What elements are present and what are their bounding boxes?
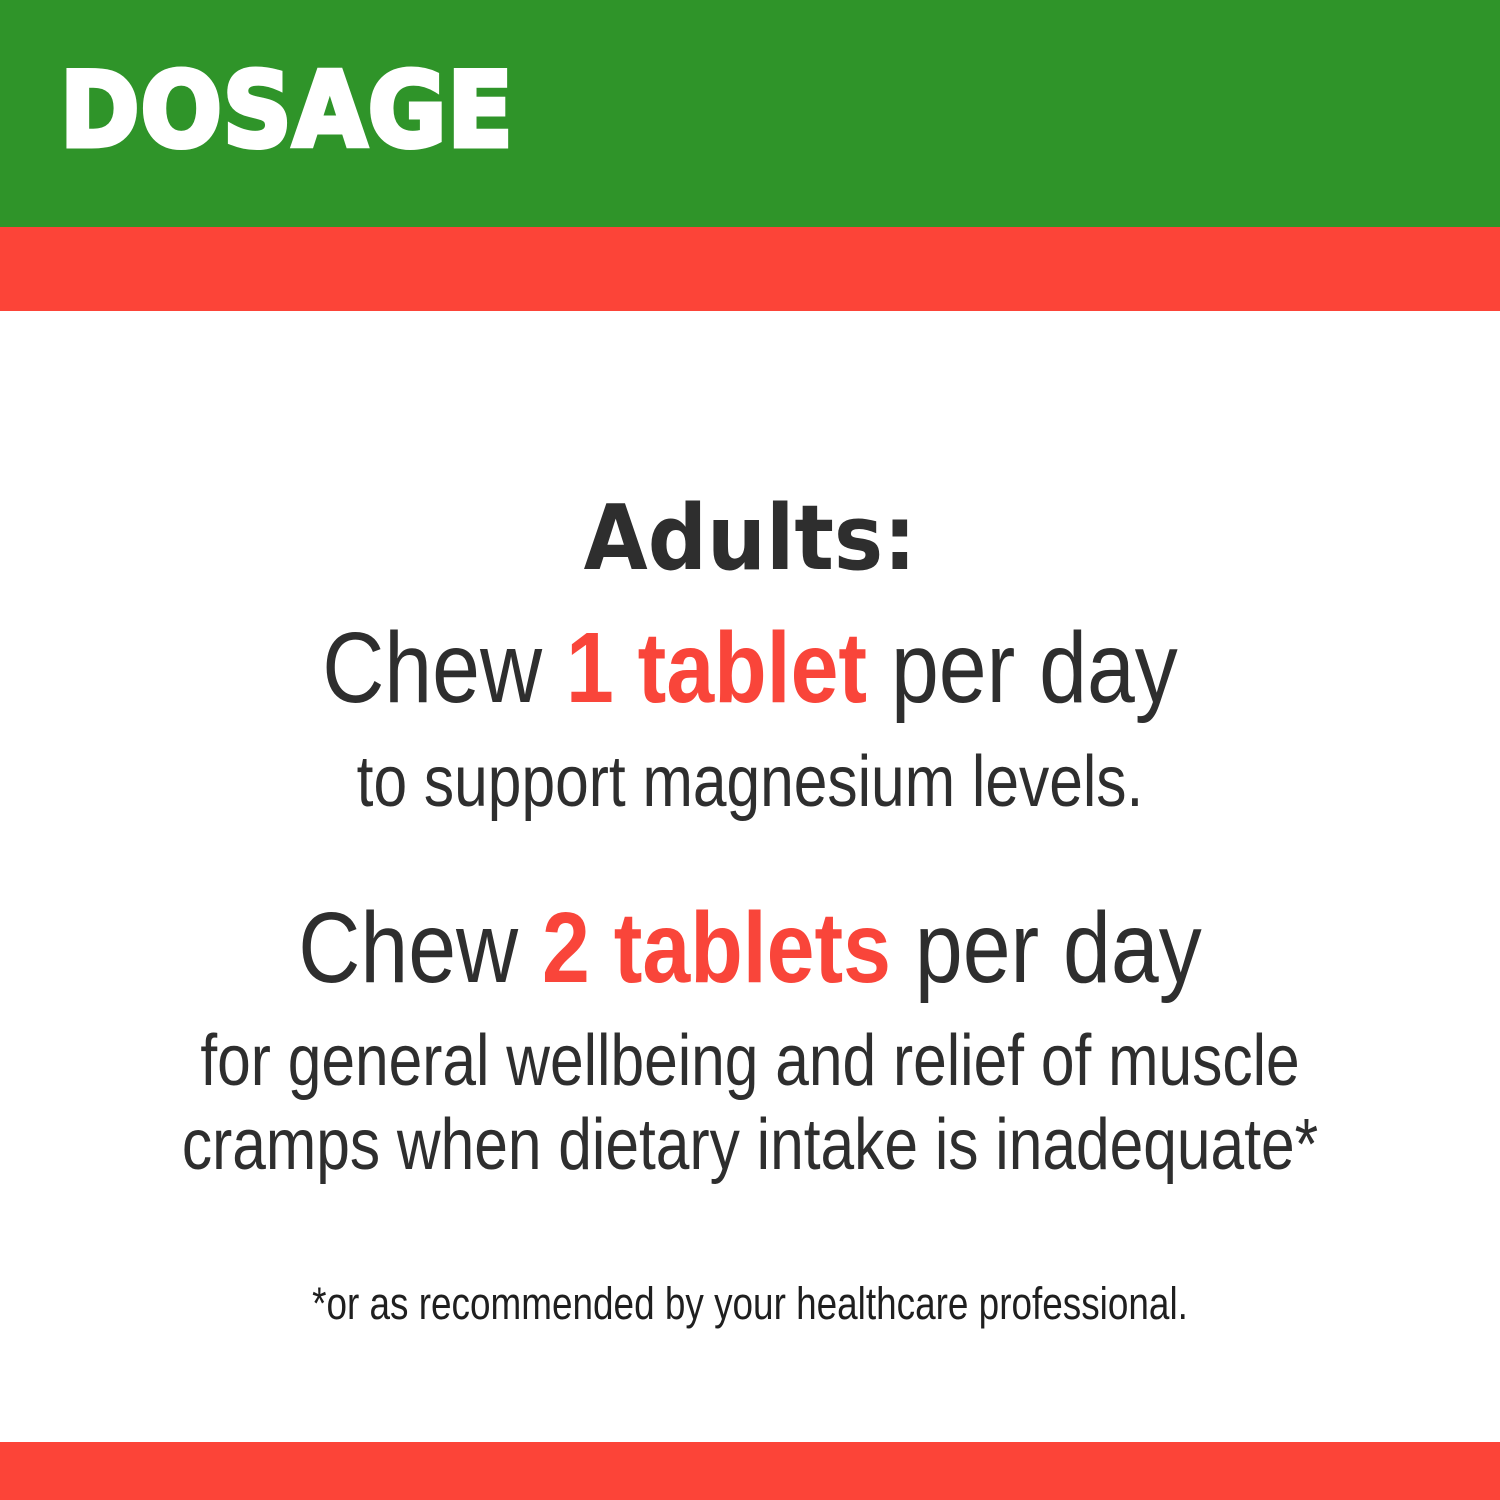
dose-1-lead-line: Chew 1 tablet per day xyxy=(105,616,1395,720)
audience-heading: Adults: xyxy=(60,493,1440,585)
dose-2-amount: 2 tablets xyxy=(542,892,891,1004)
dose-1-lead-suffix: per day xyxy=(867,612,1178,724)
dose-2-detail-line-1: for general wellbeing and relief of musc… xyxy=(120,1023,1380,1099)
dose-2-lead-prefix: Chew xyxy=(298,892,542,1004)
dosage-infographic: DOSAGE Adults: Chew 1 tablet per day to … xyxy=(0,0,1500,1500)
page-title: DOSAGE xyxy=(60,56,514,166)
dose-1-detail-line-1: to support magnesium levels. xyxy=(120,744,1380,820)
dosage-body: Adults: Chew 1 tablet per day to support… xyxy=(0,311,1500,1442)
dose-1-lead-prefix: Chew xyxy=(322,612,566,724)
footnote: *or as recommended by your healthcare pr… xyxy=(135,1279,1365,1329)
dose-2-lead-suffix: per day xyxy=(891,892,1202,1004)
red-footer-band xyxy=(0,1442,1500,1500)
red-accent-band xyxy=(0,227,1500,311)
dose-1-amount: 1 tablet xyxy=(566,612,867,724)
dose-2-lead-line: Chew 2 tablets per day xyxy=(105,896,1395,1000)
dose-2-detail-line-2: cramps when dietary intake is inadequate… xyxy=(120,1107,1380,1183)
